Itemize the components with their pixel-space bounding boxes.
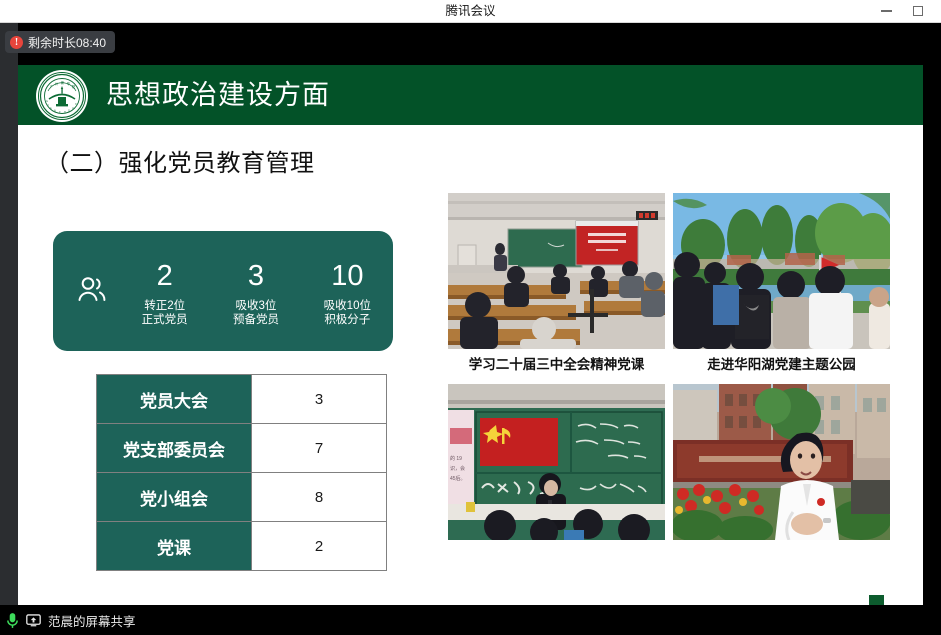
table-cell-value: 3 [252, 375, 387, 424]
screen-share-icon[interactable] [26, 614, 41, 627]
photo-row-top: 学习二十届三中全会精神党课 [448, 193, 903, 376]
stat-number: 10 [331, 259, 363, 293]
svg-text:州: 州 [55, 82, 58, 86]
remaining-time-badge: ! 剩余时长08:40 [5, 31, 115, 53]
photo-cell: 学习二十届三中全会精神党课 [448, 193, 665, 376]
stat-label: 吸收10位 积极分子 [324, 299, 371, 327]
table-cell-name: 党课 [97, 522, 252, 571]
meeting-count-table: 党员大会 3 党支部委员会 7 党小组会 8 党课 2 [96, 374, 387, 571]
svg-text:广: 广 [50, 84, 53, 89]
svg-text:U: U [72, 107, 74, 110]
svg-text:N: N [54, 110, 56, 113]
stat-item: 2 转正2位 正式党员 [119, 231, 210, 351]
shared-slide[interactable]: 广州新华院 GUANZ HOUX 思想政治建设方面 （二）强化党员教育管理 [18, 65, 923, 613]
photo-caption [448, 545, 665, 567]
table-cell-name: 党支部委员会 [97, 424, 252, 473]
photo-grid: 学习二十届三中全会精神党课 [448, 193, 903, 567]
info-icon: ! [10, 36, 23, 49]
remaining-time-text: 剩余时长08:40 [28, 34, 106, 51]
photo-student-speaker [673, 384, 890, 540]
stat-item: 10 吸收10位 积极分子 [302, 231, 393, 351]
svg-text:识，会: 识，会 [450, 465, 465, 472]
bottom-bar: 范晨的屏幕共享 [0, 605, 941, 635]
minimize-button[interactable] [871, 0, 901, 22]
table-row: 党小组会 8 [97, 473, 387, 522]
slide-header-title: 思想政治建设方面 [106, 65, 330, 125]
table-cell-value: 2 [252, 522, 387, 571]
table-row: 党支部委员会 7 [97, 424, 387, 473]
table-row: 党课 2 [97, 522, 387, 571]
slide-header: 广州新华院 GUANZ HOUX 思想政治建设方面 [18, 65, 923, 125]
photo-caption: 学习二十届三中全会精神党课 [448, 354, 665, 376]
section-title: （二）强化党员教育管理 [45, 143, 315, 178]
maximize-button[interactable] [903, 0, 933, 22]
stat-number: 3 [248, 259, 264, 293]
table-cell-value: 8 [252, 473, 387, 522]
stat-number: 2 [157, 259, 173, 293]
seal-ring: 广州新华院 GUANZ HOUX [38, 72, 86, 120]
microphone-icon[interactable] [6, 612, 19, 629]
table-cell-name: 党小组会 [97, 473, 252, 522]
photo-lecture-hall [448, 193, 665, 349]
svg-text:45后。: 45后。 [450, 475, 466, 482]
photo-cell [673, 384, 890, 567]
photo-cell: 走进华阳湖党建主题公园 [673, 193, 890, 376]
stat-label: 吸收3位 预备党员 [233, 299, 279, 327]
table-row: 党员大会 3 [97, 375, 387, 424]
screen-share-status: 范晨的屏幕共享 [6, 605, 136, 635]
photo-party-flag-class: 的 19识，会45后。 [448, 384, 665, 540]
stats-row: 2 转正2位 正式党员 3 吸收3位 预备党员 10 吸收10位 积极分子 [119, 231, 393, 351]
title-bar: 腾讯会议 [0, 0, 941, 23]
svg-text:U: U [47, 104, 49, 107]
maximize-icon [913, 6, 923, 16]
table-cell-name: 党员大会 [97, 375, 252, 424]
tencent-meeting-window: 腾讯会议 ! 剩余时长08:40 [0, 0, 941, 635]
left-rail [0, 23, 18, 605]
screen-share-label: 范晨的屏幕共享 [48, 611, 136, 630]
university-seal-logo: 广州新华院 GUANZ HOUX [36, 70, 88, 122]
photo-row-bottom: 的 19识，会45后。 [448, 384, 903, 567]
stats-card: 2 转正2位 正式党员 3 吸收3位 预备党员 10 吸收10位 积极分子 [53, 231, 393, 351]
meeting-stage: ! 剩余时长08:40 [0, 23, 941, 605]
photo-park-visit [673, 193, 890, 349]
stat-item: 3 吸收3位 预备党员 [210, 231, 301, 351]
photo-cell: 的 19识，会45后。 [448, 384, 665, 567]
svg-text:G: G [46, 100, 48, 103]
photo-caption: 走进华阳湖党建主题公园 [673, 354, 890, 376]
stat-label: 转正2位 正式党员 [142, 299, 188, 327]
people-icon [75, 273, 109, 307]
svg-text:H: H [64, 111, 66, 114]
svg-text:的 19: 的 19 [450, 455, 462, 462]
window-title: 腾讯会议 [0, 0, 941, 22]
photo-caption [673, 545, 890, 567]
minimize-icon [881, 10, 892, 12]
svg-text:O: O [68, 110, 70, 113]
table-cell-value: 7 [252, 424, 387, 473]
